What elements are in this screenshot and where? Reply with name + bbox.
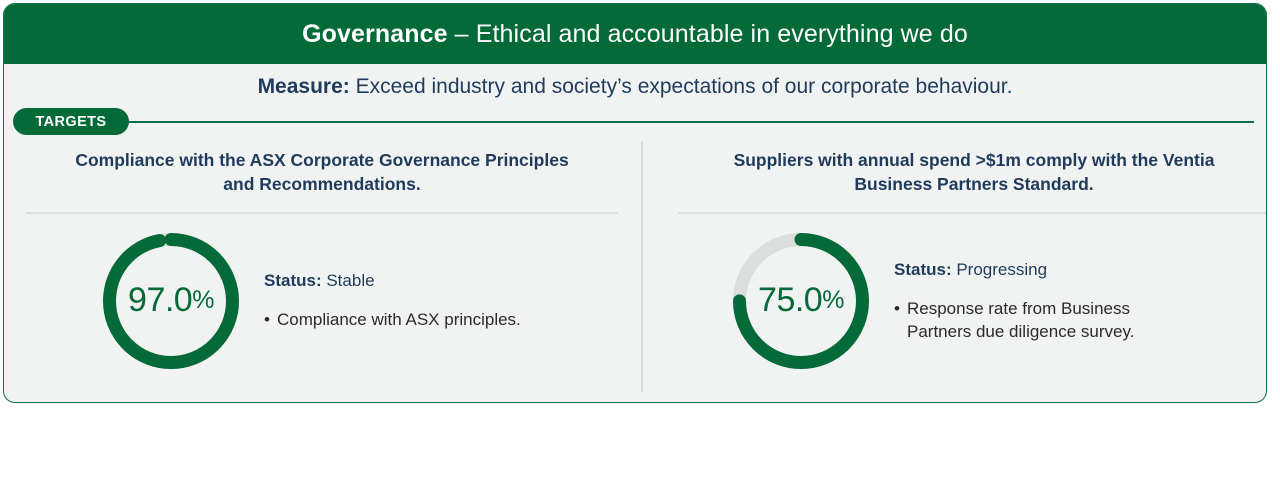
measure-label: Measure: xyxy=(258,75,350,98)
donut-value-label: 75.0% xyxy=(728,228,874,374)
targets-divider-line xyxy=(104,121,1254,123)
page-title-rest: – Ethical and accountable in everything … xyxy=(448,20,968,48)
page-title-strong: Governance xyxy=(302,20,448,48)
metric-text-block: Status: Progressing Response rate from B… xyxy=(894,259,1194,343)
donut-value: 97.0 xyxy=(128,281,192,320)
donut-chart-asx-compliance: 97.0% xyxy=(98,228,244,374)
measure-text: Measure: Exceed industry and society’s e… xyxy=(258,75,1013,99)
targets-columns: Compliance with the ASX Corporate Govern… xyxy=(4,138,1266,400)
targets-badge-label: TARGETS xyxy=(35,114,106,130)
page-title: Governance – Ethical and accountable in … xyxy=(302,20,968,49)
target-column-supplier-compliance: Suppliers with annual spend >$1m comply … xyxy=(648,138,1267,400)
metric-text-block: Status: Stable Compliance with ASX princ… xyxy=(264,270,521,331)
target-column-asx-compliance: Compliance with the ASX Corporate Govern… xyxy=(4,138,648,400)
measure-row: Measure: Exceed industry and society’s e… xyxy=(4,66,1266,108)
metric-bullet: Compliance with ASX principles. xyxy=(264,308,521,331)
status-badge: Stable xyxy=(322,271,375,290)
donut-percent-sign: % xyxy=(192,286,214,315)
donut-percent-sign: % xyxy=(822,286,844,315)
status-label: Status: xyxy=(894,260,952,279)
donut-value: 75.0 xyxy=(758,281,822,320)
status-line: Status: Progressing xyxy=(894,259,1194,281)
column-heading-divider xyxy=(26,212,618,214)
metric-bullet: Response rate from Business Partners due… xyxy=(894,297,1194,343)
donut-chart-supplier-compliance: 75.0% xyxy=(728,228,874,374)
donut-value-label: 97.0% xyxy=(98,228,244,374)
status-badge: Progressing xyxy=(952,260,1047,279)
measure-value: Exceed industry and society’s expectatio… xyxy=(350,75,1013,98)
card-header: Governance – Ethical and accountable in … xyxy=(4,4,1266,64)
targets-row: TARGETS xyxy=(4,108,1266,136)
metric-block: 75.0% Status: Progressing Response rate … xyxy=(678,228,1267,374)
targets-badge: TARGETS xyxy=(13,108,129,135)
column-vertical-divider xyxy=(641,142,643,392)
governance-metric-card: Governance – Ethical and accountable in … xyxy=(3,3,1267,403)
column-heading: Suppliers with annual spend >$1m comply … xyxy=(714,148,1234,196)
status-line: Status: Stable xyxy=(264,270,521,292)
column-heading: Compliance with the ASX Corporate Govern… xyxy=(62,148,582,196)
status-label: Status: xyxy=(264,271,322,290)
metric-block: 97.0% Status: Stable Compliance with ASX… xyxy=(26,228,618,374)
column-heading-divider xyxy=(678,212,1267,214)
